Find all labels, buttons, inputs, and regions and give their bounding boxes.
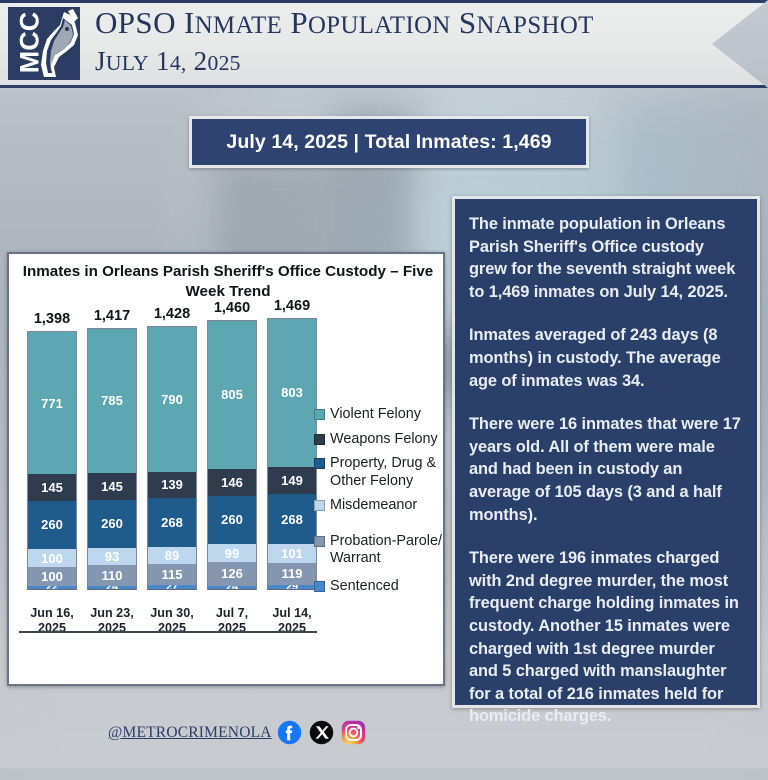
legend-swatch: [314, 581, 325, 592]
bar-column: 1,46980314926810111929: [267, 318, 317, 590]
summary-paragraph-3: There were 16 inmates that were 17 years…: [469, 413, 743, 526]
summary-text-panel: The inmate population in Orleans Parish …: [452, 196, 760, 708]
legend-swatch: [314, 500, 325, 511]
bar-segment: 22: [27, 586, 77, 590]
header-titles: OPSO INMATE POPULATION SNAPSHOT JULY 14,…: [95, 4, 594, 79]
bar-segment: 805: [207, 320, 257, 469]
bar-total-label: 1,460: [207, 300, 257, 316]
legend-swatch: [314, 536, 325, 547]
legend-item: Weapons Felony: [314, 431, 444, 449]
total-inmates-banner: July 14, 2025 | Total Inmates: 1,469: [189, 116, 589, 168]
chart-plot-area: 1,39877114526010010022Jun 16,20251,41778…: [17, 312, 305, 642]
page-title: OPSO INMATE POPULATION SNAPSHOT: [95, 4, 594, 45]
bar-segment: 99: [207, 544, 257, 562]
legend-label: Property, Drug & Other Felony: [330, 455, 444, 490]
bar-segment: 29: [267, 585, 317, 590]
legend-label: Violent Felony: [330, 406, 421, 424]
bar-column: 1,4287901392688911527: [147, 326, 197, 590]
legend-item: Violent Felony: [314, 406, 444, 424]
bar-segment: 119: [267, 563, 317, 585]
legend-item: Misdemeanor: [314, 497, 444, 515]
bar-segment: 260: [87, 500, 137, 548]
legend-label: Weapons Felony: [330, 431, 438, 449]
bar-segment: 145: [87, 473, 137, 500]
bar-segment: 24: [87, 586, 137, 590]
bar-segment: 101: [267, 544, 317, 563]
footer: @METROCRIMENOLA: [0, 708, 768, 768]
bar-segment: 145: [27, 474, 77, 501]
summary-paragraph-4: There were 196 inmates charged with 2nd …: [469, 547, 743, 728]
x-twitter-icon[interactable]: [309, 720, 334, 745]
bar-segment: 260: [27, 501, 77, 549]
bar-segment: 260: [207, 496, 257, 544]
bar-segment: 146: [207, 469, 257, 496]
bar-total-label: 1,398: [27, 311, 77, 327]
legend-swatch: [314, 458, 325, 469]
legend-swatch: [314, 434, 325, 445]
header-content: MCC OPSO INMATE POPULATION SNAPSHOT JULY…: [0, 0, 768, 88]
bar-segment: 803: [267, 318, 317, 467]
bar-segment: 100: [27, 567, 77, 586]
legend-item: Property, Drug & Other Felony: [314, 455, 444, 490]
total-inmates-text: July 14, 2025 | Total Inmates: 1,469: [226, 131, 551, 154]
bar-segment: 268: [147, 498, 197, 548]
bar-segment: 89: [147, 547, 197, 563]
bar-total-label: 1,428: [147, 306, 197, 322]
social-handle[interactable]: @METROCRIMENOLA: [108, 724, 272, 742]
legend-item: Sentenced: [314, 578, 444, 596]
social-icons: [277, 720, 366, 745]
bar-segment: 100: [27, 549, 77, 568]
instagram-icon[interactable]: [341, 720, 366, 745]
chart-legend: Violent FelonyWeapons FelonyProperty, Dr…: [314, 406, 444, 602]
legend-label: Sentenced: [330, 578, 399, 596]
chart-title: Inmates in Orleans Parish Sheriff's Offi…: [19, 262, 437, 302]
bar-segment: 268: [267, 494, 317, 544]
facebook-icon[interactable]: [277, 720, 302, 745]
bar-segment: 149: [267, 467, 317, 495]
bar-column: 1,39877114526010010022: [27, 331, 77, 590]
bar-segment: 126: [207, 562, 257, 585]
legend-label: Probation-Parole/ Warrant: [330, 533, 444, 568]
bar-segment: 790: [147, 326, 197, 472]
legend-item: Probation-Parole/ Warrant: [314, 533, 444, 568]
bar-segment: 110: [87, 565, 137, 585]
bar-column: 1,4608051462609912624: [207, 320, 257, 590]
summary-paragraph-2: Inmates averaged of 243 days (8 months) …: [469, 324, 743, 392]
bar-total-label: 1,469: [267, 298, 317, 314]
page-subtitle: JULY 14, 2025: [95, 45, 594, 79]
summary-paragraph-1: The inmate population in Orleans Parish …: [469, 213, 743, 303]
bar-segment: 139: [147, 472, 197, 498]
bar-segment: 24: [207, 586, 257, 590]
bar-segment: 115: [147, 564, 197, 585]
dog-head-icon: [34, 9, 80, 79]
bar-column: 1,4177851452609311024: [87, 328, 137, 590]
bar-segment: 785: [87, 328, 137, 473]
chart-x-axis: [19, 631, 317, 633]
bar-segment: 93: [87, 548, 137, 565]
stacked-bar-chart-panel: Inmates in Orleans Parish Sheriff's Offi…: [7, 252, 445, 686]
legend-label: Misdemeanor: [330, 497, 417, 515]
bar-total-label: 1,417: [87, 308, 137, 324]
legend-swatch: [314, 409, 325, 420]
bar-segment: 771: [27, 331, 77, 474]
bar-segment: 27: [147, 585, 197, 590]
mcc-logo: MCC: [8, 7, 80, 80]
